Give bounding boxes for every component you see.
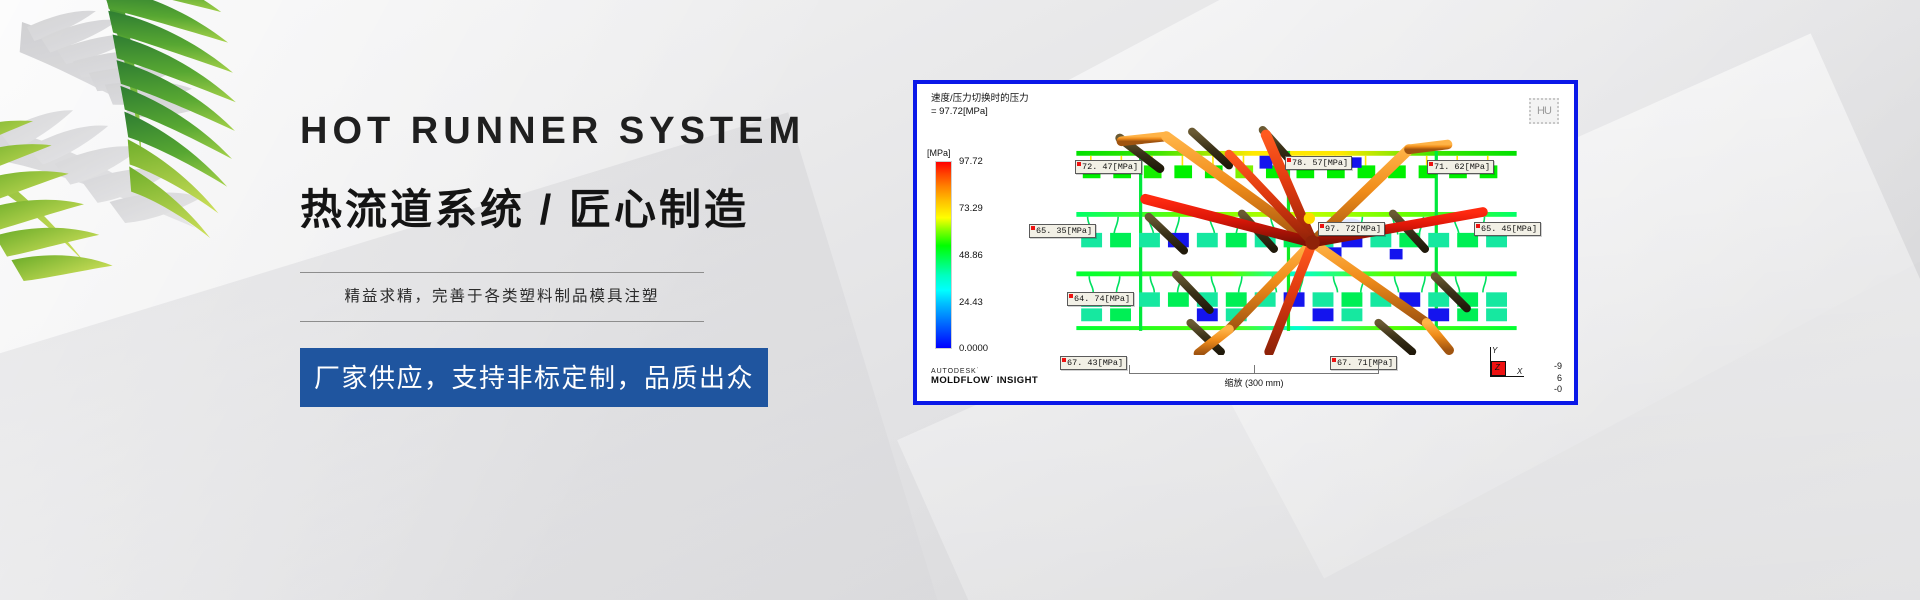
divider-bottom (300, 321, 704, 322)
hu-watermark-icon: HU (1529, 98, 1559, 124)
moldflow-insight-wordmark: MOLDFLOW˙ INSIGHT (931, 376, 1038, 387)
cta-badge[interactable]: 厂家供应，支持非标定制，品质出众 (300, 348, 768, 407)
headline-chinese: 热流道系统 / 匠心制造 (300, 188, 720, 232)
callout-value: 67. 43[MPa] (1060, 356, 1127, 370)
axis-label-x: X (1517, 367, 1522, 376)
legend-tick-2: 48.86 (959, 250, 983, 261)
legend-tick-1: 73.29 (959, 203, 983, 214)
callout-value: 65. 45[MPa] (1474, 222, 1541, 236)
coordinate-z: -0 (1554, 384, 1562, 395)
scale-bar-label: 缩放 (300 mm) (1129, 376, 1379, 389)
legend-tick-4: 0.0000 (959, 343, 988, 354)
callout-value: 72. 47[MPa] (1075, 160, 1142, 174)
coordinate-x: -9 (1554, 361, 1562, 372)
scale-bar-ticks (1129, 365, 1379, 374)
subheadline: 精益求精，完善于各类塑料制品模具注塑 (300, 273, 704, 321)
autodesk-moldflow-logo: AUTODESK˙ MOLDFLOW˙ INSIGHT (931, 368, 1038, 387)
headline-block: HOT RUNNER SYSTEM 热流道系统 / 匠心制造 精益求精，完善于各… (300, 112, 720, 407)
promo-banner: HOT RUNNER SYSTEM 热流道系统 / 匠心制造 精益求精，完善于各… (0, 0, 1920, 600)
callout-value: 97. 72[MPa] (1318, 222, 1385, 236)
coordinate-readout: -9 6 -0 (1554, 361, 1562, 395)
callout-value: 78. 57[MPa] (1285, 156, 1352, 170)
figure-title: 速度/压力切换时的压力 = 97.72[MPa] (931, 93, 1029, 119)
callout-value: 65. 35[MPa] (1029, 224, 1096, 238)
legend-tick-0: 97.72 (959, 156, 983, 167)
axis-label-z: Z (1495, 363, 1500, 372)
coordinate-y: 6 (1554, 373, 1562, 384)
axis-triad-icon: Y X Z (1482, 347, 1528, 389)
legend-tick-3: 24.43 (959, 297, 983, 308)
color-gradient-bar (935, 161, 952, 349)
callout-value: 71. 62[MPa] (1427, 160, 1494, 174)
pressure-color-legend: [MPa] 97.72 73.29 48.86 24.43 0.0000 (927, 148, 1023, 349)
callout-value: 64. 74[MPa] (1067, 292, 1134, 306)
moldflow-simulation-figure: 速度/压力切换时的压力 = 97.72[MPa] [MPa] 97.72 73.… (913, 80, 1578, 405)
scale-bar: 缩放 (300 mm) (1129, 365, 1379, 389)
axis-label-y: Y (1492, 346, 1497, 355)
headline-english: HOT RUNNER SYSTEM (300, 112, 720, 150)
